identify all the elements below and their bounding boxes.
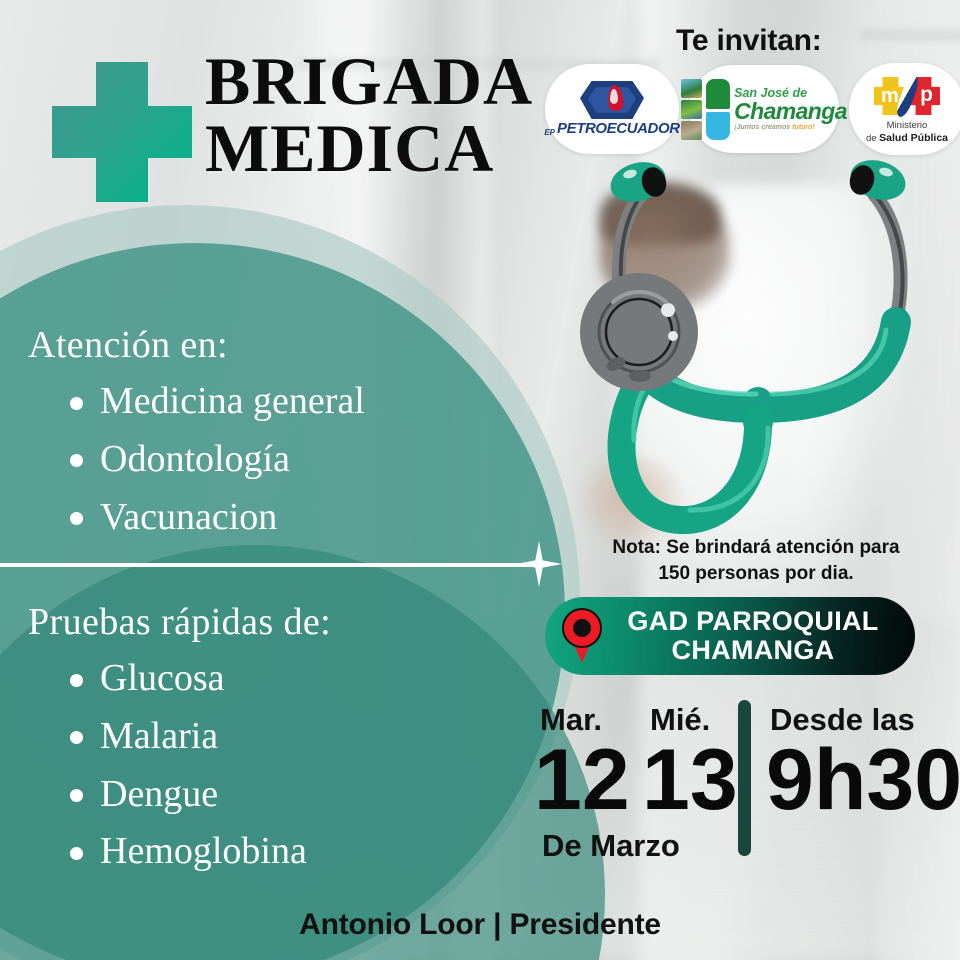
capacity-note-line-1: Nota: Se brindará atención para bbox=[566, 535, 946, 561]
chamanga-blocks-icon bbox=[706, 79, 730, 140]
msp-letter-m: m bbox=[881, 86, 899, 106]
msp-mark-icon: m p bbox=[874, 73, 940, 119]
time-value: 9h30 bbox=[766, 742, 960, 819]
capacity-note: Nota: Se brindará atención para 150 pers… bbox=[566, 535, 946, 586]
list-item: Glucosa bbox=[28, 650, 331, 708]
services-heading: Atención en: bbox=[28, 323, 365, 367]
petroecuador-mark-icon bbox=[580, 81, 644, 119]
msp-letter-p: p bbox=[920, 84, 933, 105]
schedule-block: Mar. Mié. 12 13 De Marzo Desde las 9h30 bbox=[520, 698, 960, 858]
month-label: De Marzo bbox=[542, 828, 680, 864]
location-text: GAD PARROQUIAL CHAMANGA bbox=[605, 607, 915, 665]
chamanga-line-2: Chamanga bbox=[734, 100, 847, 123]
tests-heading: Pruebas rápidas de: bbox=[28, 600, 331, 644]
chamanga-logo: San José de Chamanga ¡Juntos creamos fut… bbox=[689, 65, 839, 153]
list-item: Hemoglobina bbox=[28, 823, 331, 881]
background-shelf-right bbox=[860, 30, 960, 40]
tests-list: Glucosa Malaria Dengue Hemoglobina bbox=[28, 650, 331, 881]
location-badge: GAD PARROQUIAL CHAMANGA bbox=[545, 597, 915, 675]
map-pin-icon bbox=[559, 608, 605, 664]
title-line-2: MEDICA bbox=[205, 115, 533, 182]
capacity-note-line-2: 150 personas por dia. bbox=[566, 561, 946, 587]
chamanga-tagline: ¡Juntos creamos futuro! bbox=[734, 124, 847, 131]
petroecuador-prefix: EP bbox=[544, 128, 555, 137]
list-item: Odontología bbox=[28, 431, 365, 489]
msp-line-2: de Salud Pública bbox=[866, 133, 948, 145]
chamanga-photo-strip-icon bbox=[681, 79, 702, 140]
list-item: Medicina general bbox=[28, 373, 365, 431]
location-line-2: CHAMANGA bbox=[605, 636, 901, 665]
services-block: Atención en: Medicina general Odontologí… bbox=[28, 323, 365, 546]
medical-cross-icon bbox=[52, 62, 192, 202]
poster-canvas: BRIGADA MEDICA Te invitan: EP PETROECUAD… bbox=[0, 0, 960, 960]
section-divider bbox=[0, 563, 540, 567]
location-line-1: GAD PARROQUIAL bbox=[605, 607, 901, 636]
title-line-1: BRIGADA bbox=[205, 43, 533, 119]
footer-signature: Antonio Loor | Presidente bbox=[0, 908, 960, 942]
sponsors-heading: Te invitan: bbox=[676, 24, 822, 58]
msp-logo: m p Ministerio de Salud Pública bbox=[849, 63, 960, 155]
sponsor-logo-row: EP PETROECUADOR San José de Chamanga bbox=[545, 63, 960, 155]
schedule-divider-bar bbox=[738, 700, 751, 856]
day1-number: 12 bbox=[534, 742, 630, 819]
tests-block: Pruebas rápidas de: Glucosa Malaria Deng… bbox=[28, 600, 331, 881]
petroecuador-logo: EP PETROECUADOR bbox=[545, 64, 679, 154]
list-item: Malaria bbox=[28, 708, 331, 766]
petroecuador-label: PETROECUADOR bbox=[557, 120, 680, 137]
list-item: Dengue bbox=[28, 766, 331, 824]
page-title: BRIGADA MEDICA bbox=[205, 48, 533, 181]
msp-line-1: Ministerio bbox=[887, 121, 928, 131]
services-list: Medicina general Odontología Vacunacion bbox=[28, 373, 365, 546]
stethoscope-icon bbox=[556, 150, 960, 560]
day2-number: 13 bbox=[642, 742, 738, 819]
list-item: Vacunacion bbox=[28, 489, 365, 547]
